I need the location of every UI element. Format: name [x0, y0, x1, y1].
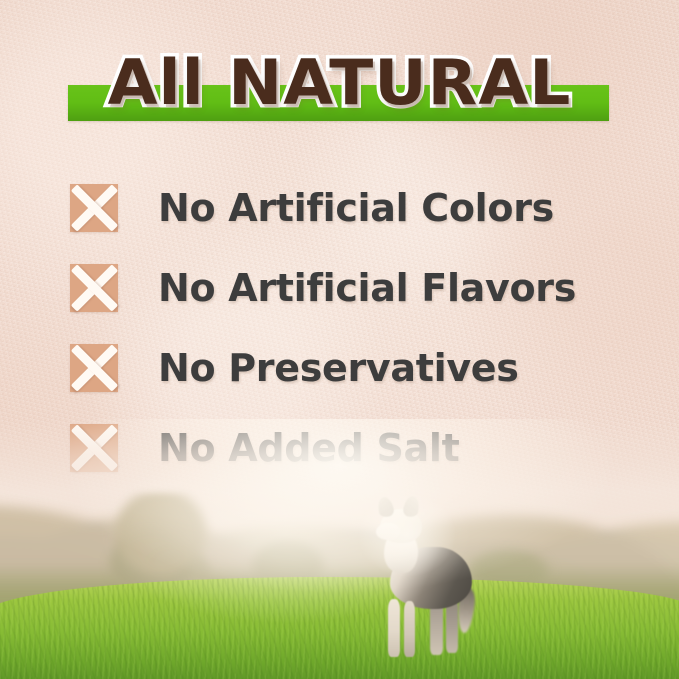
all-natural-product-poster: All NATURAL No Artificial Colors No Arti…	[0, 0, 679, 679]
x-mark-icon	[70, 264, 118, 312]
headline-banner: All NATURAL	[0, 48, 679, 132]
list-item: No Artificial Flavors	[0, 248, 679, 328]
dog-ear	[402, 495, 421, 519]
x-mark-icon	[70, 344, 118, 392]
claim-label: No Artificial Colors	[158, 188, 554, 228]
grass-texture	[0, 577, 679, 679]
landscape-photo	[0, 419, 679, 679]
claim-label: No Artificial Flavors	[158, 268, 576, 308]
page-title: All NATURAL	[0, 48, 679, 118]
x-mark-icon	[70, 184, 118, 232]
list-item: No Artificial Colors	[0, 168, 679, 248]
border-collie-dog	[368, 495, 480, 665]
dog-muzzle	[376, 523, 400, 540]
list-item: No Preservatives	[0, 328, 679, 408]
claim-label: No Preservatives	[158, 348, 519, 388]
